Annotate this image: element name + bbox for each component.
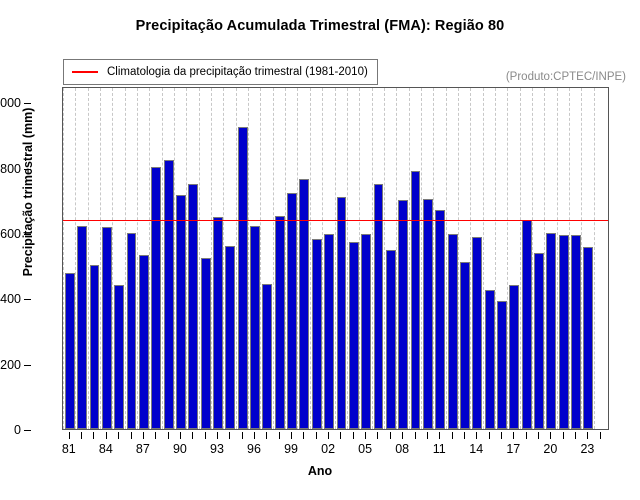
x-axis-tick	[217, 432, 218, 439]
x-axis-tick	[476, 432, 477, 439]
y-axis-tick	[24, 365, 31, 366]
x-axis-tick-label: 05	[358, 442, 372, 456]
bar	[114, 285, 124, 429]
bar	[559, 235, 569, 429]
bar	[151, 167, 161, 429]
bar	[90, 265, 100, 429]
legend-line-swatch	[72, 71, 98, 73]
x-axis-tick	[402, 432, 403, 439]
bar	[349, 242, 359, 429]
x-axis-tick-label: 90	[173, 442, 187, 456]
bar	[546, 233, 556, 429]
bar	[287, 193, 297, 430]
x-axis-tick	[254, 432, 255, 439]
bar	[423, 199, 433, 429]
bar	[472, 237, 482, 429]
x-axis-tick	[180, 432, 181, 439]
x-axis-tick	[563, 432, 564, 439]
precipitation-bar-chart: Precipitação Acumulada Trimestral (FMA):…	[0, 0, 640, 500]
y-axis-tick-label: 600	[0, 227, 21, 241]
x-axis-tick	[353, 432, 354, 439]
y-axis-tick	[24, 103, 31, 104]
x-axis-tick	[415, 432, 416, 439]
bar	[102, 227, 112, 429]
y-axis-tick-label: 400	[0, 292, 21, 306]
y-axis-title: Precipitação trimestral (mm)	[21, 32, 35, 352]
x-axis-tick	[316, 432, 317, 439]
plot-area	[62, 87, 609, 430]
x-axis-tick-label: 14	[469, 442, 483, 456]
bar	[77, 226, 87, 430]
bars-layer	[63, 88, 608, 429]
x-axis-tick	[192, 432, 193, 439]
x-axis-tick	[266, 432, 267, 439]
x-axis-tick	[377, 432, 378, 439]
x-axis-tick	[69, 432, 70, 439]
bar	[361, 234, 371, 429]
x-axis-tick	[513, 432, 514, 439]
bar	[571, 235, 581, 429]
x-axis-tick	[526, 432, 527, 439]
x-axis-tick	[550, 432, 551, 439]
x-axis-tick-label: 87	[136, 442, 150, 456]
bar	[435, 210, 445, 429]
bar	[139, 255, 149, 429]
bar	[398, 200, 408, 429]
x-axis-tick	[279, 432, 280, 439]
x-axis-tick-label: 02	[321, 442, 335, 456]
bar	[225, 246, 235, 429]
x-axis-tick-label: 23	[580, 442, 594, 456]
bar	[201, 258, 211, 429]
x-axis-tick	[106, 432, 107, 439]
y-axis-tick	[24, 234, 31, 235]
x-axis-tick-label: 99	[284, 442, 298, 456]
bar	[497, 301, 507, 429]
x-axis-tick	[390, 432, 391, 439]
bar	[262, 284, 272, 429]
bar	[176, 195, 186, 429]
bar	[164, 160, 174, 429]
x-axis-tick	[205, 432, 206, 439]
x-axis-tick	[229, 432, 230, 439]
x-axis-tick-label: 93	[210, 442, 224, 456]
y-axis-tick-label: 200	[0, 358, 21, 372]
x-axis-tick	[427, 432, 428, 439]
bar	[448, 234, 458, 429]
x-axis-tick	[328, 432, 329, 439]
x-axis-tick	[242, 432, 243, 439]
x-axis-tick	[81, 432, 82, 439]
bar	[127, 233, 137, 429]
bar	[460, 262, 470, 429]
bar	[213, 217, 223, 429]
bar	[324, 234, 334, 429]
x-axis-tick	[489, 432, 490, 439]
bar	[534, 253, 544, 429]
x-axis-tick-label: 17	[506, 442, 520, 456]
x-axis-tick	[303, 432, 304, 439]
x-axis-tick	[600, 432, 601, 439]
legend-label: Climatologia da precipitação trimestral …	[107, 66, 368, 78]
bar	[386, 250, 396, 429]
x-axis-title: Ano	[0, 464, 640, 478]
legend: Climatologia da precipitação trimestral …	[63, 59, 378, 85]
x-axis-tick	[118, 432, 119, 439]
bar	[65, 273, 75, 429]
x-axis-tick	[340, 432, 341, 439]
producer-annotation: (Produto:CPTEC/INPE)	[506, 71, 626, 83]
bar	[411, 171, 421, 429]
x-axis-tick	[168, 432, 169, 439]
x-axis-tick-label: 84	[99, 442, 113, 456]
chart-title: Precipitação Acumulada Trimestral (FMA):…	[0, 18, 640, 34]
x-axis-tick	[365, 432, 366, 439]
x-axis-tick-label: 96	[247, 442, 261, 456]
bar	[583, 247, 593, 429]
x-axis-tick-label: 20	[543, 442, 557, 456]
x-axis-tick	[452, 432, 453, 439]
y-axis-tick	[24, 169, 31, 170]
x-axis-tick	[464, 432, 465, 439]
y-axis-tick	[24, 299, 31, 300]
x-axis-tick	[538, 432, 539, 439]
bar	[509, 285, 519, 429]
y-axis-tick-label: 1000	[0, 96, 21, 110]
x-axis-tick	[155, 432, 156, 439]
x-axis-tick	[291, 432, 292, 439]
bar	[312, 239, 322, 429]
x-axis-tick-label: 08	[395, 442, 409, 456]
x-axis-tick	[93, 432, 94, 439]
bar	[337, 197, 347, 429]
y-axis-tick-label: 800	[0, 162, 21, 176]
bar	[238, 127, 248, 429]
x-axis-tick	[143, 432, 144, 439]
x-axis-tick-label: 81	[62, 442, 76, 456]
bar	[485, 290, 495, 429]
bar	[522, 220, 532, 429]
x-axis-tick	[587, 432, 588, 439]
x-axis-tick	[131, 432, 132, 439]
x-axis-tick	[501, 432, 502, 439]
y-axis: Precipitação trimestral (mm) 02004006008…	[0, 0, 62, 500]
bar	[275, 216, 285, 429]
bar	[299, 179, 309, 429]
x-axis-tick	[575, 432, 576, 439]
x-axis-tick-label: 11	[433, 442, 446, 456]
bar	[250, 226, 260, 429]
climatology-reference-line	[63, 220, 608, 221]
x-axis-tick	[439, 432, 440, 439]
